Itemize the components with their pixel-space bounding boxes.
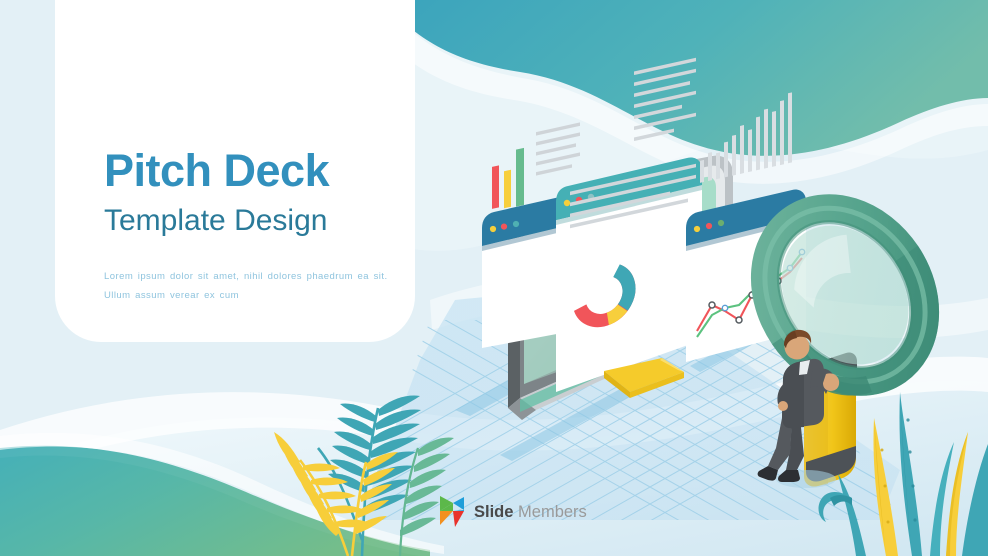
- slide-canvas: Pitch Deck Template Design Lorem ipsum d…: [0, 0, 988, 556]
- logo-word-slide: Slide: [474, 503, 513, 521]
- agave-plant-right: [819, 392, 988, 556]
- slide-members-logo[interactable]: Slide Members: [437, 492, 587, 532]
- page-subtitle: Template Design: [104, 205, 404, 237]
- logo-word-members: Members: [513, 503, 586, 521]
- pinwheel-logo-icon: [437, 492, 467, 532]
- title-text-block: Pitch Deck Template Design Lorem ipsum d…: [104, 148, 404, 306]
- fern-plant-left: [274, 396, 454, 556]
- page-title: Pitch Deck: [104, 148, 404, 193]
- body-line-1: Lorem ipsum dolor sit amet, nihil dolore…: [104, 267, 404, 287]
- body-line-2: Ullum assum verear ex cum: [104, 286, 404, 306]
- logo-wordmark: Slide Members: [474, 504, 587, 521]
